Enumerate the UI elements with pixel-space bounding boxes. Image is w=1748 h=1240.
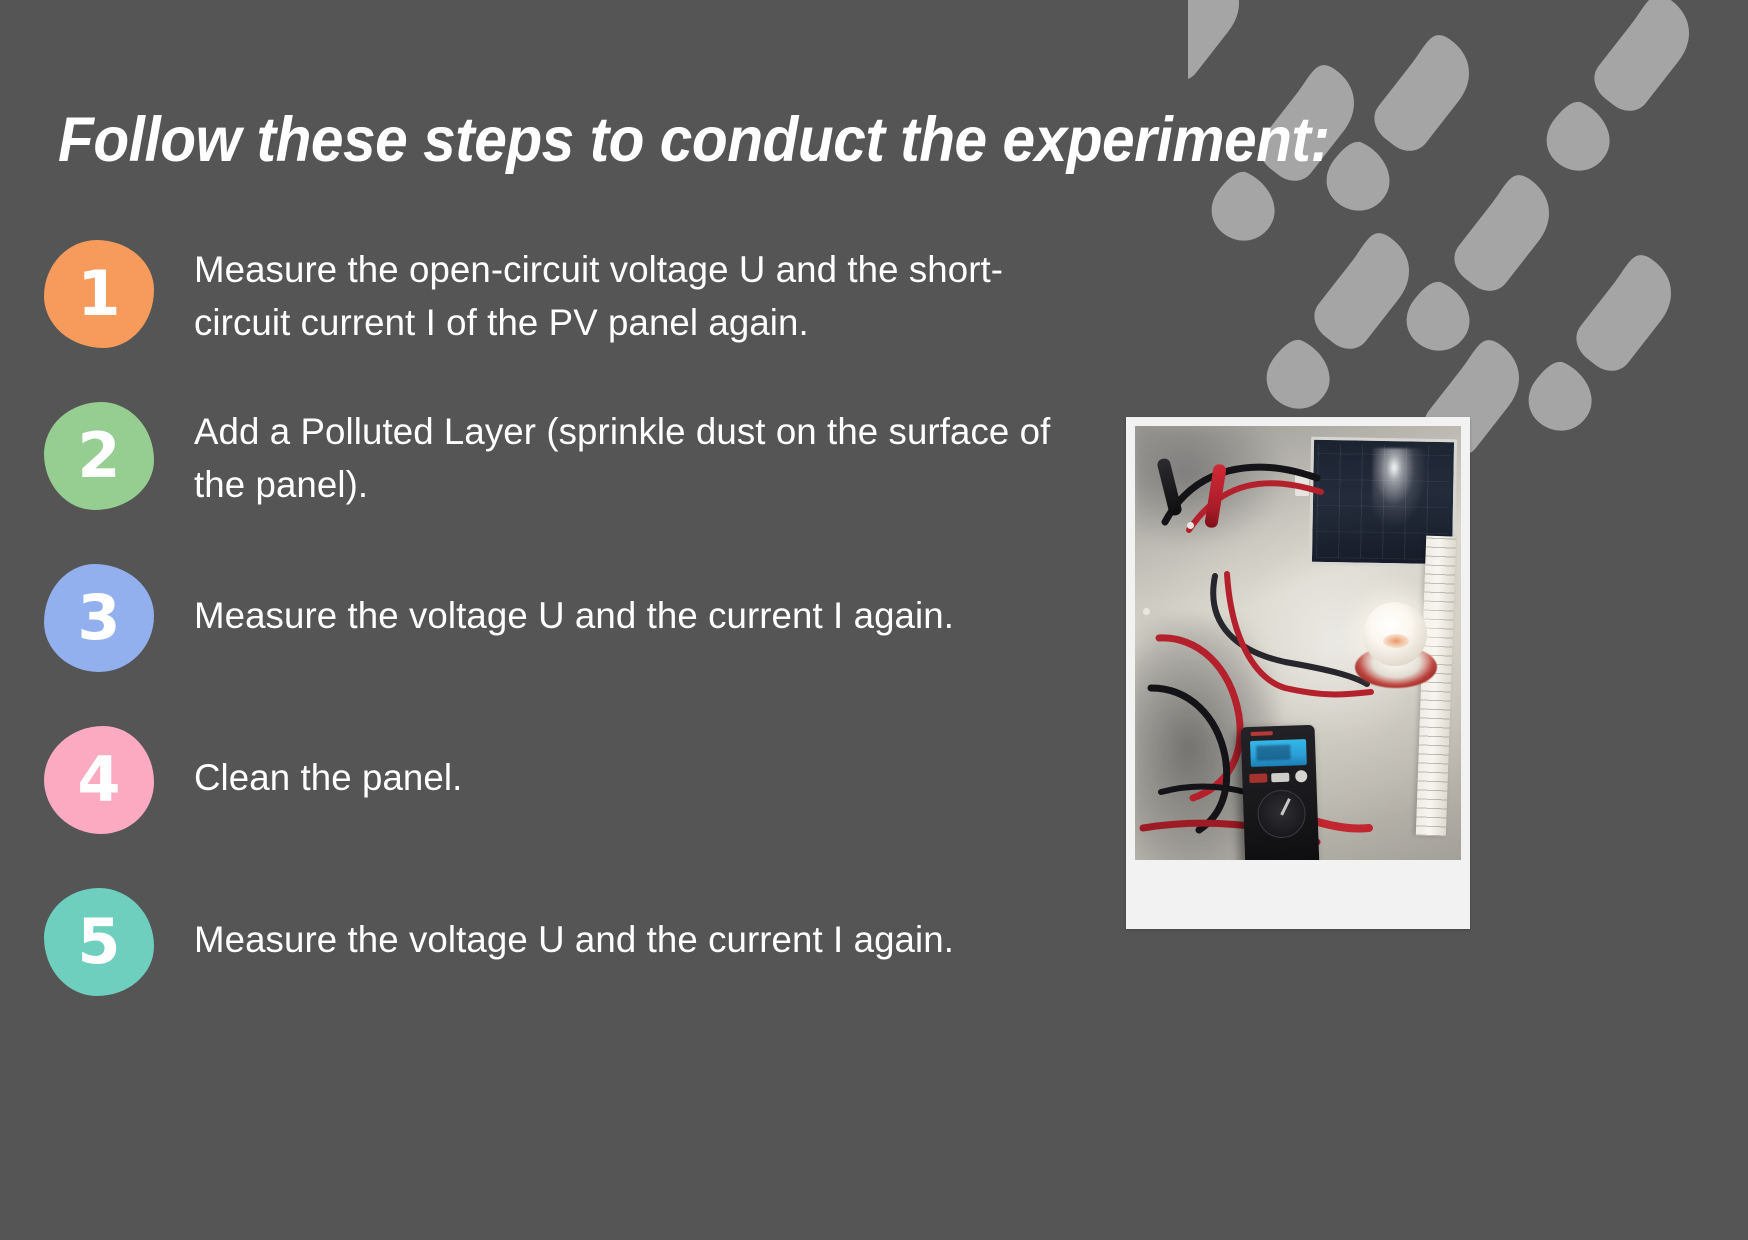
multimeter-dial bbox=[1257, 789, 1307, 839]
multimeter-button-gray bbox=[1271, 773, 1289, 783]
step-badge-3: 3 bbox=[44, 564, 154, 672]
list-item: 5 Measure the voltage U and the current … bbox=[44, 888, 1104, 1006]
step-badge-1: 1 bbox=[44, 240, 154, 348]
step-text: Measure the voltage U and the current I … bbox=[194, 888, 1095, 967]
list-item: 3 Measure the voltage U and the current … bbox=[44, 564, 1104, 682]
multimeter-button-red bbox=[1249, 773, 1267, 783]
step-badge-4: 4 bbox=[44, 726, 154, 834]
multimeter-brand bbox=[1251, 731, 1273, 736]
step-text: Measure the voltage U and the current I … bbox=[194, 564, 1095, 643]
bulb-filament bbox=[1383, 634, 1409, 648]
multimeter-button-round bbox=[1295, 770, 1307, 782]
slide-root: Follow these steps to conduct the experi… bbox=[0, 0, 1748, 1240]
step-text: Add a Polluted Layer (sprinkle dust on t… bbox=[194, 402, 1095, 511]
step-number: 1 bbox=[77, 263, 120, 325]
clip-highlight bbox=[1143, 608, 1150, 615]
polaroid-caption-band bbox=[1135, 860, 1461, 920]
clip-highlight bbox=[1187, 522, 1194, 529]
step-text: Measure the open-circuit voltage U and t… bbox=[194, 240, 1095, 349]
multimeter-display bbox=[1250, 739, 1307, 767]
step-number: 3 bbox=[77, 587, 120, 649]
list-item: 2 Add a Polluted Layer (sprinkle dust on… bbox=[44, 402, 1104, 520]
step-number: 5 bbox=[77, 911, 120, 973]
step-text: Clean the panel. bbox=[194, 726, 1095, 805]
experiment-setup-photo bbox=[1126, 417, 1470, 929]
step-badge-5: 5 bbox=[44, 888, 154, 996]
page-title: Follow these steps to conduct the experi… bbox=[58, 106, 1546, 174]
step-number: 4 bbox=[77, 749, 120, 811]
list-item: 1 Measure the open-circuit voltage U and… bbox=[44, 240, 1104, 358]
photo-image bbox=[1135, 426, 1461, 860]
light-bulb bbox=[1353, 608, 1441, 694]
steps-list: 1 Measure the open-circuit voltage U and… bbox=[44, 240, 1104, 1006]
multimeter bbox=[1241, 725, 1320, 860]
step-badge-2: 2 bbox=[44, 402, 154, 510]
list-item: 4 Clean the panel. bbox=[44, 726, 1104, 844]
step-number: 2 bbox=[77, 425, 120, 487]
